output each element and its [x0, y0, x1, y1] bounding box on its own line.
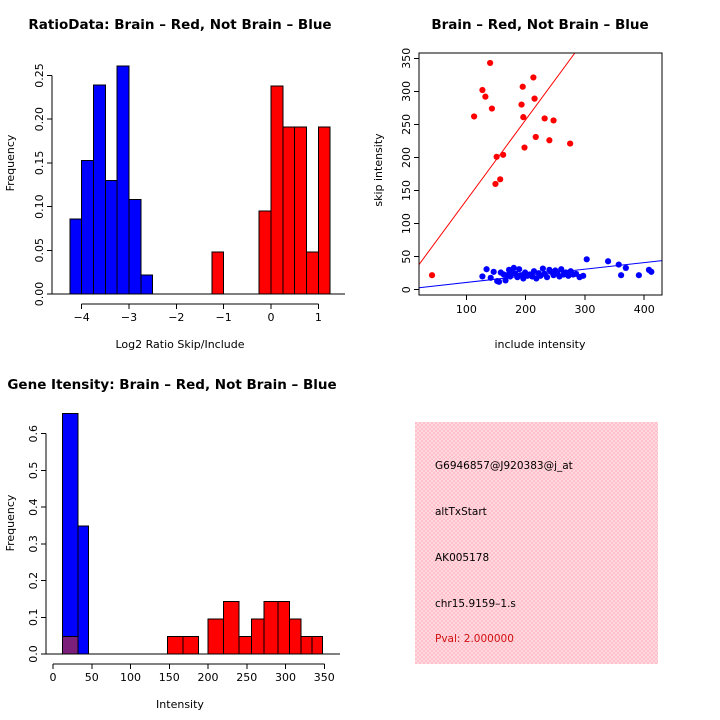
histogram-bar [239, 637, 251, 654]
y-tick-label: 0.2 [27, 572, 40, 590]
histogram-bar [264, 601, 278, 654]
scatter-point [605, 258, 611, 264]
ratio-histogram-svg: RatioData: Brain – Red, Not Brain – Blue… [0, 0, 360, 360]
histogram-bar [141, 275, 153, 294]
scatter-plot-area: 100200300400050100150200250300350 [400, 48, 662, 316]
scatter-point [491, 269, 497, 275]
hist-series-brain [212, 86, 330, 294]
x-tick-label: 300 [574, 303, 595, 316]
scatter-point [516, 266, 522, 272]
y-tick-label: 0.5 [27, 462, 40, 480]
x-tick-label: 150 [159, 671, 180, 684]
scatter-point [530, 74, 536, 80]
x-tick-label: −4 [74, 311, 90, 324]
panel-ratio-histogram: RatioData: Brain – Red, Not Brain – Blue… [0, 0, 360, 360]
hist-series-brain [168, 601, 323, 654]
y-tick-label: 200 [400, 147, 413, 168]
y-tick-label: 0 [400, 286, 413, 293]
y-tick-label: 0.10 [33, 194, 46, 219]
scatter-point [580, 273, 586, 279]
histogram-bar [82, 160, 94, 294]
scatter-point [497, 176, 503, 182]
x-tick-label: 400 [634, 303, 655, 316]
gene-histogram-ylabel: Frequency [4, 494, 17, 551]
scatter-point [500, 152, 506, 158]
x-tick-label: 100 [120, 671, 141, 684]
y-tick-label: 350 [400, 48, 413, 69]
histogram-bar [271, 86, 283, 294]
histogram-bar [295, 127, 307, 294]
scatter-point [584, 256, 590, 262]
histogram-bar [301, 637, 312, 654]
panel-probe-annotation: G6946857@J920383@j_at altTxStart AK00517… [360, 360, 720, 720]
annotation-event-type: altTxStart [435, 506, 487, 518]
scatter-point [471, 113, 477, 119]
y-tick-label: 0.3 [27, 535, 40, 553]
histogram-bar [278, 601, 290, 654]
x-tick-label: 50 [85, 671, 99, 684]
panel-gene-intensity-histogram: Gene Itensity: Brain – Red, Not Brain – … [0, 360, 360, 720]
gene-histogram-plot-area: 0.00.10.20.30.40.50.60501001502002503003… [27, 414, 340, 684]
scatter-point [544, 274, 550, 280]
scatter-point [502, 277, 508, 283]
scatter-point [550, 117, 556, 123]
gene-histogram-svg: Gene Itensity: Brain – Red, Not Brain – … [0, 360, 360, 720]
scatter-point [623, 265, 629, 271]
scatter-point [531, 96, 537, 102]
x-tick-label: 200 [515, 303, 536, 316]
scatter-point [636, 272, 642, 278]
x-tick-label: 0 [50, 671, 57, 684]
histogram-bar [251, 619, 263, 654]
histogram-bar [259, 211, 271, 294]
plot-box [419, 53, 662, 295]
annotation-probeset-id: G6946857@J920383@j_at [435, 460, 573, 472]
histogram-bar [212, 252, 224, 294]
annotation-pval: Pval: 2.000000 [435, 633, 514, 645]
y-tick-label: 0.20 [33, 107, 46, 131]
annotation-accession: AK005178 [435, 552, 489, 564]
gene-histogram-xlabel: Intensity [156, 698, 204, 711]
ratio-histogram-xlabel: Log2 Ratio Skip/Include [115, 338, 244, 351]
scatter-series-brain [429, 60, 573, 278]
scatter-point [520, 114, 526, 120]
histogram-bar [289, 619, 301, 654]
annotation-locus: chr15.9159–1.s [435, 598, 516, 610]
y-tick-label: 300 [400, 81, 413, 102]
scatter-point [618, 272, 624, 278]
y-tick-label: 0.6 [27, 425, 40, 443]
y-tick-label: 100 [400, 213, 413, 234]
histogram-bar [183, 637, 199, 654]
scatter-point [542, 115, 548, 121]
histogram-bar [70, 219, 82, 294]
scatter-point [479, 273, 485, 279]
histogram-bar [307, 252, 319, 294]
scatter-point [511, 265, 517, 271]
scatter-point [518, 101, 524, 107]
x-tick-label: 350 [314, 671, 335, 684]
histogram-bar [105, 180, 117, 294]
histogram-bar [168, 637, 184, 654]
histogram-bar [312, 637, 323, 654]
hist-series-not-brain [62, 414, 88, 654]
scatter-point [429, 272, 435, 278]
histogram-bar [62, 637, 78, 654]
scatter-inner [419, 53, 662, 288]
x-tick-label: 300 [275, 671, 296, 684]
y-tick-label: 0.1 [27, 609, 40, 627]
x-tick-label: −3 [121, 311, 137, 324]
histogram-bar [94, 85, 106, 294]
scatter-point [567, 140, 573, 146]
panel-intensity-scatter: Brain – Red, Not Brain – Blue 1002003004… [360, 0, 720, 360]
scatter-xlabel: include intensity [494, 338, 586, 351]
x-tick-label: 1 [315, 311, 322, 324]
figure-canvas: RatioData: Brain – Red, Not Brain – Blue… [0, 0, 720, 720]
annotation-box: G6946857@J920383@j_at altTxStart AK00517… [415, 422, 658, 664]
scatter-point [546, 137, 552, 143]
scatter-point [487, 60, 493, 66]
y-tick-label: 0.4 [27, 498, 40, 516]
scatter-point [489, 105, 495, 111]
scatter-title: Brain – Red, Not Brain – Blue [431, 17, 648, 33]
histogram-bar [208, 619, 224, 654]
scatter-point [521, 144, 527, 150]
x-tick-label: −1 [216, 311, 232, 324]
histogram-bar [318, 127, 330, 294]
scatter-point [496, 279, 502, 285]
y-tick-label: 250 [400, 114, 413, 135]
x-tick-label: 100 [456, 303, 477, 316]
y-tick-label: 50 [400, 250, 413, 264]
ratio-histogram-ylabel: Frequency [4, 134, 17, 191]
y-tick-label: 0.15 [33, 151, 46, 176]
ratio-histogram-title: RatioData: Brain – Red, Not Brain – Blue [28, 17, 331, 33]
x-tick-label: 250 [236, 671, 257, 684]
scatter-point [540, 265, 546, 271]
histogram-bar [129, 200, 141, 294]
scatter-point [492, 181, 498, 187]
ratio-histogram-plot-area: 0.000.050.100.150.200.25−4−3−2−101 [33, 63, 345, 324]
histogram-bar [224, 601, 240, 654]
hist-series-overlap [62, 637, 78, 654]
y-tick-label: 0.25 [33, 63, 46, 88]
scatter-point [488, 275, 494, 281]
x-tick-label: 0 [268, 311, 275, 324]
scatter-series-not-brain [479, 256, 654, 285]
scatter-point [648, 269, 654, 275]
x-tick-label: −2 [168, 311, 184, 324]
intensity-scatter-svg: Brain – Red, Not Brain – Blue 1002003004… [360, 0, 720, 360]
histogram-bar [62, 414, 78, 654]
scatter-ylabel: skip intensity [372, 133, 385, 207]
scatter-point [494, 154, 500, 160]
hist-series-not-brain [70, 66, 153, 294]
y-tick-label: 0.05 [33, 238, 46, 263]
x-tick-label: 200 [198, 671, 219, 684]
scatter-point [533, 134, 539, 140]
gene-histogram-title: Gene Itensity: Brain – Red, Not Brain – … [7, 377, 336, 393]
histogram-bar [117, 66, 129, 294]
histogram-bar [283, 127, 295, 294]
scatter-point [482, 94, 488, 100]
y-tick-label: 0.00 [33, 282, 46, 307]
scatter-point [520, 84, 526, 90]
histogram-bar [78, 526, 89, 654]
scatter-point [616, 261, 622, 267]
y-tick-label: 150 [400, 180, 413, 201]
y-tick-label: 0.0 [27, 645, 40, 663]
scatter-point [483, 266, 489, 272]
scatter-point [479, 87, 485, 93]
